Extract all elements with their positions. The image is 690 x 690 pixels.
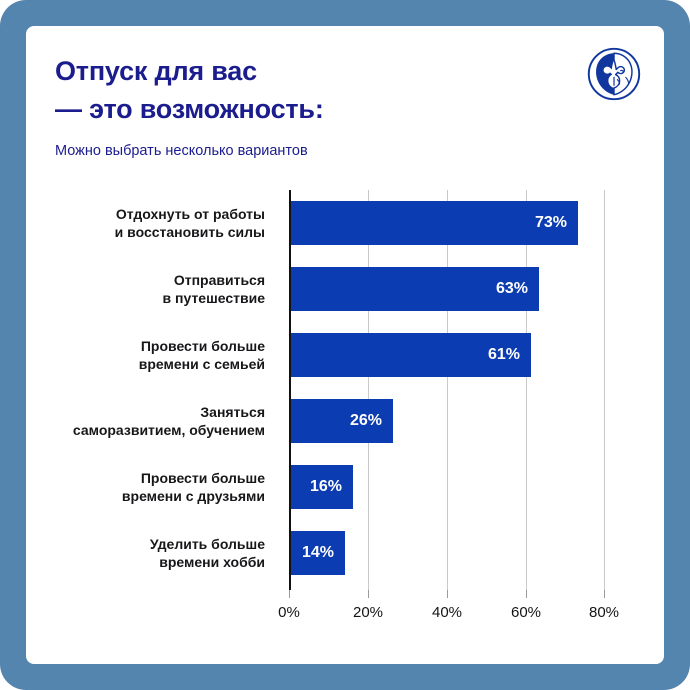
category-label-line-1: Отдохнуть от работы bbox=[116, 205, 265, 223]
x-tick-label: 80% bbox=[589, 604, 619, 621]
bar-value-label: 73% bbox=[535, 201, 567, 245]
bar: 14% bbox=[290, 531, 345, 575]
x-tick-mark bbox=[526, 590, 527, 598]
category-label-line-2: и восстановить силы bbox=[115, 223, 265, 241]
bar-value-label: 26% bbox=[350, 399, 382, 443]
bar-value-label: 61% bbox=[488, 333, 520, 377]
bar: 63% bbox=[290, 267, 539, 311]
x-axis: 0% 20% 40% 60% 80% bbox=[289, 590, 605, 630]
bar-row: Уделить больше времени хобби 14% bbox=[26, 531, 664, 575]
category-label: Провести больше времени с друзьями bbox=[26, 465, 277, 509]
header: Отпуск для вас — это возможность: Можно … bbox=[55, 52, 642, 192]
category-label-line-2: саморазвитием, обучением bbox=[73, 421, 265, 439]
bar: 16% bbox=[290, 465, 353, 509]
category-label-line-1: Провести больше bbox=[141, 469, 265, 487]
bar-row: Отдохнуть от работы и восстановить силы … bbox=[26, 201, 664, 245]
horizontal-bar-chart: Отдохнуть от работы и восстановить силы … bbox=[26, 190, 664, 650]
category-label-line-1: Провести больше bbox=[141, 337, 265, 355]
bar: 26% bbox=[290, 399, 393, 443]
x-tick-label: 20% bbox=[353, 604, 383, 621]
bar: 73% bbox=[290, 201, 578, 245]
bar-row: Провести больше времени с друзьями 16% bbox=[26, 465, 664, 509]
bar-row: Отправиться в путешествие 63% bbox=[26, 267, 664, 311]
x-tick-label: 60% bbox=[511, 604, 541, 621]
category-label-line-2: времени с друзьями bbox=[122, 487, 265, 505]
page-subtitle: Можно выбрать несколько вариантов bbox=[55, 141, 642, 161]
category-label: Провести больше времени с семьей bbox=[26, 333, 277, 377]
page-title-line-2: — это возможность: bbox=[55, 90, 642, 128]
bar-row: Провести больше времени с семьей 61% bbox=[26, 333, 664, 377]
category-label: Уделить больше времени хобби bbox=[26, 531, 277, 575]
x-tick-label: 0% bbox=[278, 604, 300, 621]
category-label-line-2: времени хобби bbox=[159, 553, 265, 571]
category-label-line-1: Уделить больше bbox=[150, 535, 265, 553]
lion-head-circle-logo-icon bbox=[586, 46, 642, 102]
x-tick-mark bbox=[289, 590, 290, 598]
bar-row: Заняться саморазвитием, обучением 26% bbox=[26, 399, 664, 443]
x-tick-mark bbox=[447, 590, 448, 598]
category-label-line-2: в путешествие bbox=[163, 289, 265, 307]
bar-rows: Отдохнуть от работы и восстановить силы … bbox=[26, 190, 664, 590]
x-tick-mark bbox=[604, 590, 605, 598]
category-label-line-1: Отправиться bbox=[174, 271, 265, 289]
category-label: Отправиться в путешествие bbox=[26, 267, 277, 311]
category-label-line-1: Заняться bbox=[200, 403, 265, 421]
x-tick-label: 40% bbox=[432, 604, 462, 621]
page-title-line-1: Отпуск для вас bbox=[55, 52, 642, 90]
y-axis-line bbox=[289, 190, 291, 590]
category-label: Отдохнуть от работы и восстановить силы bbox=[26, 201, 277, 245]
poster-frame: Отпуск для вас — это возможность: Можно … bbox=[0, 0, 690, 690]
category-label: Заняться саморазвитием, обучением bbox=[26, 399, 277, 443]
category-label-line-2: времени с семьей bbox=[139, 355, 265, 373]
bar: 61% bbox=[290, 333, 531, 377]
poster-card: Отпуск для вас — это возможность: Можно … bbox=[26, 26, 664, 664]
x-tick-mark bbox=[368, 590, 369, 598]
bar-value-label: 16% bbox=[310, 465, 342, 509]
bar-value-label: 14% bbox=[302, 531, 334, 575]
bar-value-label: 63% bbox=[496, 267, 528, 311]
